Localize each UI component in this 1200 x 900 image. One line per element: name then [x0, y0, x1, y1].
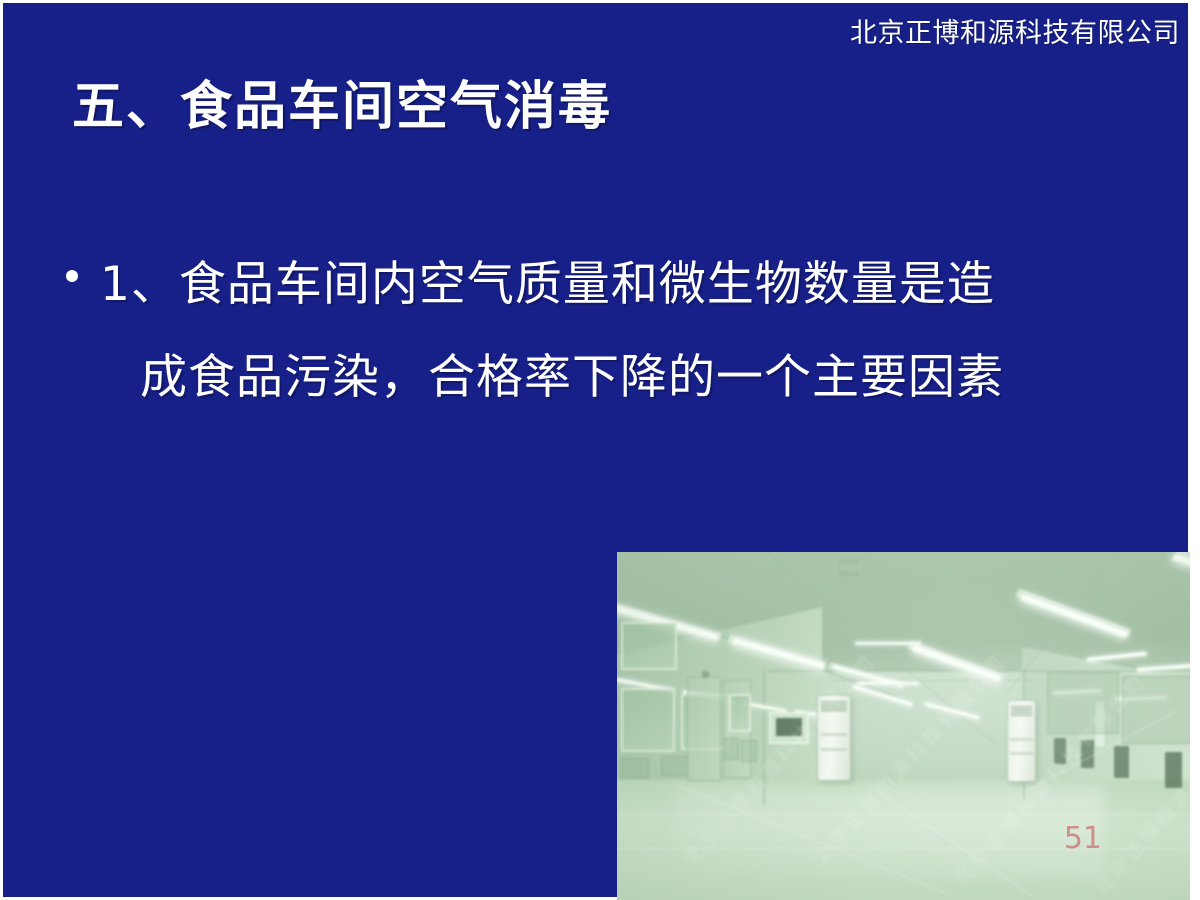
- ac-panel-seam: [821, 733, 848, 736]
- pass-through-window: [776, 718, 802, 736]
- ceiling-seam: [832, 640, 1032, 641]
- wall-panel: [661, 756, 689, 776]
- body-content: 1、食品车间内空气质量和微生物数量是造 成食品污染，合格率下降的一个主要因素: [58, 238, 1148, 424]
- bullet-text-line-1: 1、食品车间内空气质量和微生物数量是造: [100, 238, 1148, 331]
- ceiling-label-line-2: ΞΞΞΞΞ: [839, 572, 860, 579]
- floor-vent: [1165, 752, 1182, 788]
- ceiling-sensor-icon: [701, 670, 710, 679]
- company-name-header: 北京正博和源科技有限公司: [850, 20, 1180, 47]
- ac-panel-seam: [1010, 738, 1033, 741]
- wall-window: [729, 694, 751, 732]
- floor-joint: [617, 814, 1190, 815]
- ac-grille: [821, 701, 847, 712]
- cleanroom-photo: ΞΞΞΞΞ ΞΞΞΞΞ: [617, 552, 1190, 900]
- air-conditioning-unit: [1007, 700, 1036, 782]
- wall-panel: [741, 740, 757, 762]
- cleanroom-door: [687, 677, 721, 781]
- ceiling-light: [857, 682, 919, 685]
- wall-window: [621, 622, 677, 670]
- bullet-list-item: 1、食品车间内空气质量和微生物数量是造 成食品污染，合格率下降的一个主要因素: [58, 238, 1148, 424]
- wall-panel: [1047, 672, 1119, 734]
- floor-reflection: [674, 788, 1104, 878]
- floor-vent: [1054, 738, 1066, 764]
- ceiling-light: [855, 642, 921, 645]
- bullet-text-line-2: 成食品污染，合格率下降的一个主要因素: [100, 331, 1148, 424]
- pass-through-box: [769, 712, 809, 744]
- page-number: 51: [1064, 824, 1102, 854]
- air-conditioning-unit: [817, 695, 851, 781]
- bullet-dot-icon: [66, 270, 78, 282]
- floor-vent: [1114, 746, 1129, 778]
- cleanroom-photo-scene: ΞΞΞΞΞ ΞΞΞΞΞ: [617, 552, 1190, 900]
- presentation-slide: 北京正博和源科技有限公司 五、食品车间空气消毒 1、食品车间内空气质量和微生物数…: [0, 0, 1200, 900]
- ac-panel-seam: [1010, 752, 1033, 755]
- corner-edge-left: [763, 670, 765, 805]
- wall-window: [621, 688, 675, 752]
- ceiling-label-line-1: ΞΞΞΞΞ: [839, 560, 860, 567]
- wall-panel: [621, 758, 649, 778]
- slide-title: 五、食品车间空气消毒: [72, 78, 612, 138]
- floor-joint: [617, 848, 1190, 849]
- ac-panel-seam: [821, 748, 848, 751]
- wall-panel: [723, 738, 739, 760]
- ac-grille: [1011, 706, 1033, 716]
